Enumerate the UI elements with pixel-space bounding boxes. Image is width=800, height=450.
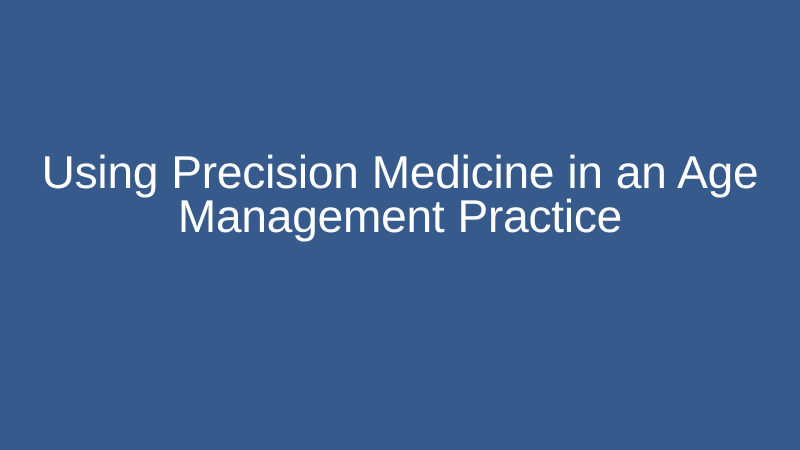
slide-content-block: Using Precision Medicine in an Age Manag… xyxy=(20,150,780,238)
title-slide: Using Precision Medicine in an Age Manag… xyxy=(0,0,800,450)
page-title: Using Precision Medicine in an Age Manag… xyxy=(20,150,780,238)
